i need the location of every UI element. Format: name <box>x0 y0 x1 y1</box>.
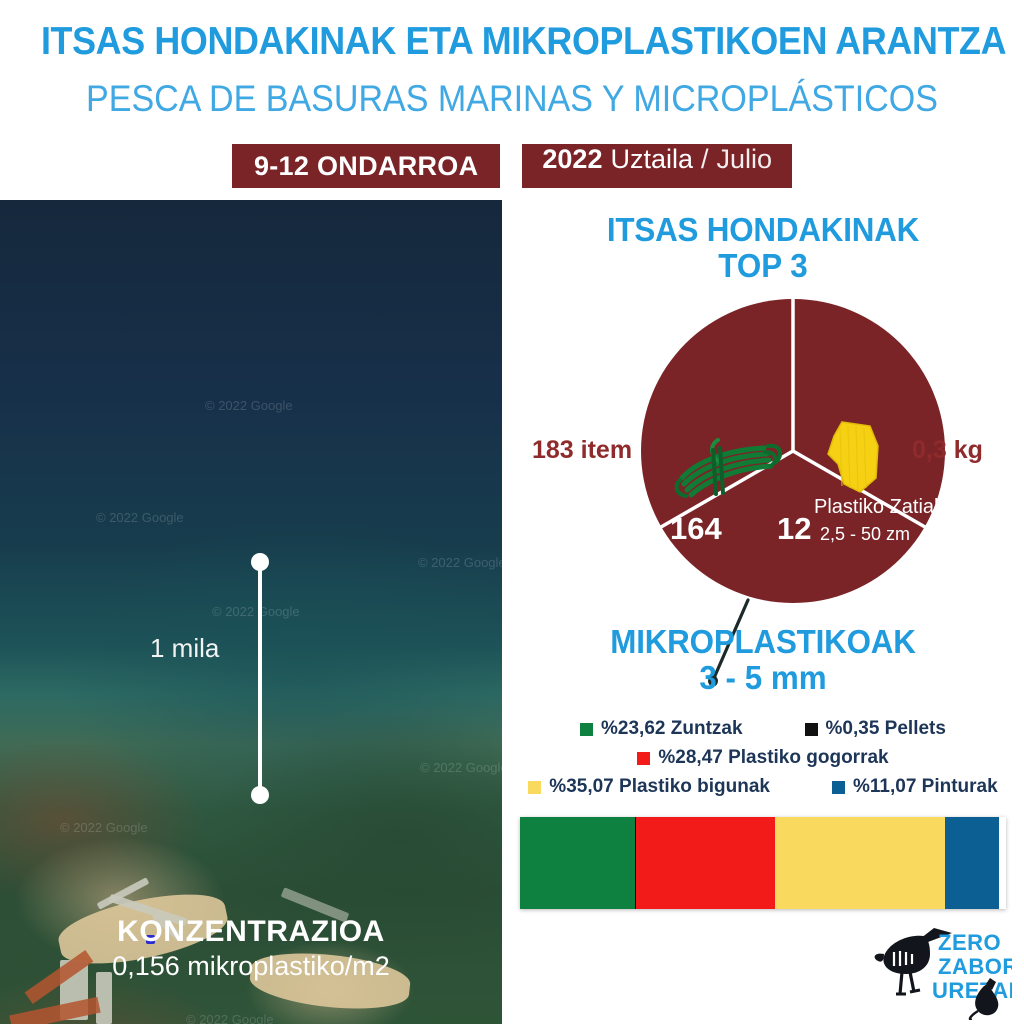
map-watermark-6: © 2022 Google <box>186 1012 274 1024</box>
legend-label-pellets: %0,35 Pellets <box>826 718 946 740</box>
concentration-title: KONZENTRAZIOA <box>0 915 502 949</box>
pie-sublabel-fragments: 2,5 - 50 zm <box>820 524 910 545</box>
legend-row: %23,62 Zuntzak %0,35 Pellets <box>502 718 1024 740</box>
micro-section-title: MIKROPLASTIKOAK 3 - 5 mm <box>502 624 1024 695</box>
micro-title-line2: 3 - 5 mm <box>515 660 1011 696</box>
legend-swatch-yellow <box>528 781 541 794</box>
badge-location: 9-12 ONDARROA <box>232 144 500 188</box>
map-watermark-5: © 2022 Google <box>420 760 502 775</box>
header-badges: 9-12 ONDARROA 2022 Uztaila / Julio <box>0 144 1024 188</box>
poster-header: ITSAS HONDAKINAK ETA MIKROPLASTIKOEN ARA… <box>0 0 1024 200</box>
micro-stacked-bar <box>520 817 1006 909</box>
pie-label-fragments: Plastiko Zatiak <box>814 496 944 519</box>
stack-segment-bigunak <box>775 817 945 909</box>
zero-zabor-uretan-logo: ZERO ZABOR URETAN <box>872 912 1012 1020</box>
litter-section-title: ITSAS HONDAKINAK TOP 3 <box>502 212 1024 283</box>
map-watermark-3: © 2022 Google <box>212 604 300 619</box>
legend-swatch-green <box>580 723 593 736</box>
page-title-es: PESCA DE BASURAS MARINAS Y MICROPLÁSTICO… <box>41 78 983 120</box>
legend-label-pinturak: %11,07 Pinturak <box>853 776 998 798</box>
page-title-eu: ITSAS HONDAKINAK ETA MIKROPLASTIKOEN ARA… <box>41 20 983 64</box>
legend-row: %28,47 Plastiko gogorrak <box>502 747 1024 769</box>
map-watermark-2: © 2022 Google <box>205 398 293 413</box>
map-watermark: © 2022 Google <box>96 510 184 525</box>
legend-row: %35,07 Plastiko bigunak %11,07 Pinturak <box>502 776 1024 798</box>
scale-bar-line <box>258 562 262 794</box>
logo-text-line2: ZABOR <box>938 954 1012 979</box>
satellite-map-panel: © 2022 Google © 2022 Google © 2022 Googl… <box>0 200 502 1024</box>
stack-segment-zuntzak <box>520 817 635 909</box>
stack-segment-gogorrak <box>636 817 774 909</box>
badge-month-es: Julio <box>717 144 773 175</box>
pie-value-fragments: 12 <box>777 511 811 547</box>
concentration-block: KONZENTRAZIOA 0,156 mikroplastiko/m2 <box>0 915 502 982</box>
logo-text-line1: ZERO <box>938 930 1001 955</box>
map-watermark-4: © 2022 Google <box>418 555 502 570</box>
badge-date: 2022 Uztaila / Julio <box>522 144 792 188</box>
plastic-fragment-icon <box>820 418 884 496</box>
infographic-poster: ITSAS HONDAKINAK ETA MIKROPLASTIKOEN ARA… <box>0 0 1024 1024</box>
scale-bar-endpoint-top <box>251 553 269 571</box>
scale-bar-label: 1 mila <box>150 633 219 664</box>
legend-item-bigunak: %35,07 Plastiko bigunak <box>528 776 770 798</box>
badge-month-eu: Uztaila <box>610 144 693 175</box>
badge-separator: / <box>701 144 709 175</box>
total-weight-label: 0,3 kg <box>912 436 983 465</box>
right-column: ITSAS HONDAKINAK TOP 3 <box>502 200 1024 1024</box>
legend-item-gogorrak: %28,47 Plastiko gogorrak <box>637 747 888 769</box>
legend-label-bigunak: %35,07 Plastiko bigunak <box>549 776 770 798</box>
total-items-label: 183 item <box>532 436 632 465</box>
stack-segment-pinturak <box>945 817 999 909</box>
map-watermark-7: © 2022 Google <box>60 820 148 835</box>
rope-icon <box>668 432 790 504</box>
logo-text-line3: URETAN <box>932 978 1012 1003</box>
litter-title-line2: TOP 3 <box>515 248 1011 284</box>
pie-value-ropes: 164 <box>670 511 722 547</box>
legend-item-zuntzak: %23,62 Zuntzak <box>580 718 743 740</box>
organization-logo: ZERO ZABOR URETAN <box>872 912 1012 1020</box>
legend-item-pellets: %0,35 Pellets <box>805 718 946 740</box>
micro-title-line1: MIKROPLASTIKOAK <box>515 624 1011 660</box>
scale-bar-endpoint-bottom <box>251 786 269 804</box>
legend-swatch-black <box>805 723 818 736</box>
legend-label-gogorrak: %28,47 Plastiko gogorrak <box>658 747 888 769</box>
legend-label-zuntzak: %23,62 Zuntzak <box>601 718 743 740</box>
legend-swatch-blue <box>832 781 845 794</box>
badge-year: 2022 <box>542 144 602 175</box>
litter-pie-chart: 164 12 2 Plastiko Zatiak 2,5 - 50 zm Bri… <box>502 296 1024 626</box>
micro-legend: %23,62 Zuntzak %0,35 Pellets %28,47 Plas… <box>502 718 1024 805</box>
litter-title-line1: ITSAS HONDAKINAK <box>515 212 1011 248</box>
legend-item-pinturak: %11,07 Pinturak <box>832 776 998 798</box>
concentration-value: 0,156 mikroplastiko/m2 <box>0 951 502 982</box>
legend-swatch-red <box>637 752 650 765</box>
